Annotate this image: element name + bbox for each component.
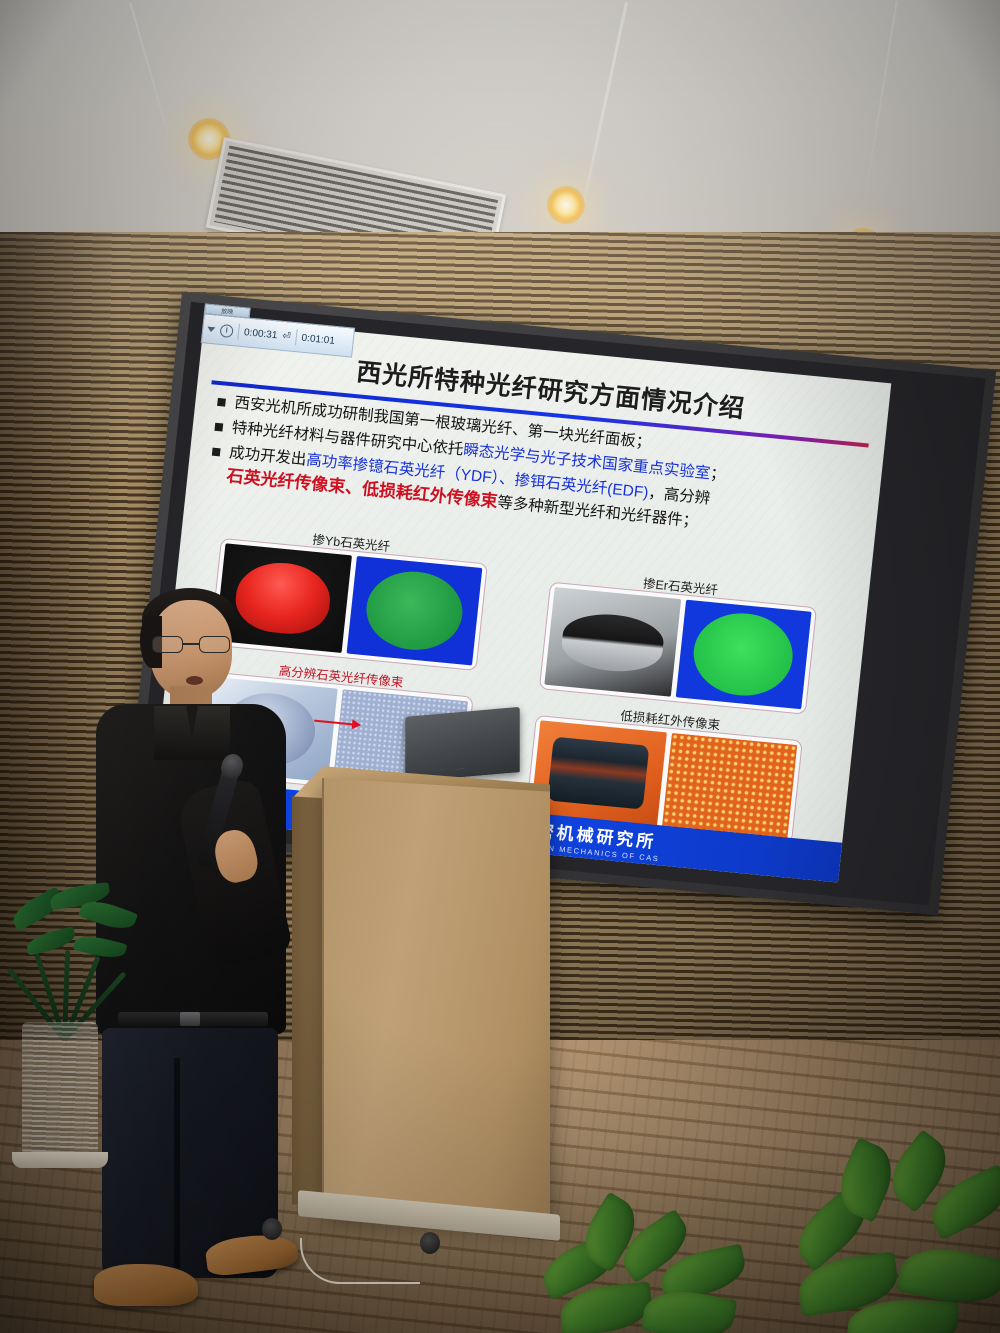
bullet-3-text-b: ，高分辨	[647, 485, 711, 508]
power-cable	[300, 1238, 420, 1284]
ceiling-seam	[864, 1, 897, 199]
bullet-square-icon	[217, 398, 226, 407]
plant-pot	[22, 1022, 98, 1160]
lectern-front-panel	[322, 778, 550, 1224]
clock-icon[interactable]	[220, 323, 234, 337]
yb-fiber-cross-section-image	[346, 556, 482, 666]
plant-saucer	[12, 1152, 108, 1168]
caster-wheel	[420, 1232, 440, 1254]
lectern	[292, 762, 550, 1227]
bullet-2-text-b: ；	[709, 466, 726, 484]
shoe	[94, 1264, 198, 1306]
bullet-3-text-a: 成功开发出	[228, 444, 307, 468]
elapsed-time: 0:00:31	[244, 327, 278, 341]
ir-bundle-micrograph-image	[661, 733, 797, 839]
glasses-icon	[152, 636, 230, 654]
downlight-icon	[547, 186, 585, 224]
red-arrow-head-icon	[351, 719, 361, 730]
caster-wheel	[262, 1218, 282, 1240]
potted-palm-foliage	[0, 880, 152, 1040]
er-fiber-spool-image	[544, 587, 680, 697]
restart-icon[interactable]: ⏎	[282, 330, 292, 342]
chevron-down-icon[interactable]	[207, 326, 215, 332]
bullet-square-icon	[212, 448, 221, 457]
ir-bundle-photo-image	[531, 720, 667, 826]
total-time: 0:01:01	[301, 332, 335, 346]
conference-room-photo: 绿色 西光所特种光纤研究方面情况介绍 西安光机所成功研制我国第一根	[0, 0, 1000, 1333]
foreground-foliage-right	[790, 1140, 1000, 1333]
er-fiber-cross-section-image	[675, 600, 811, 710]
bullet-square-icon	[214, 423, 223, 432]
foreground-foliage-left	[540, 1190, 770, 1333]
